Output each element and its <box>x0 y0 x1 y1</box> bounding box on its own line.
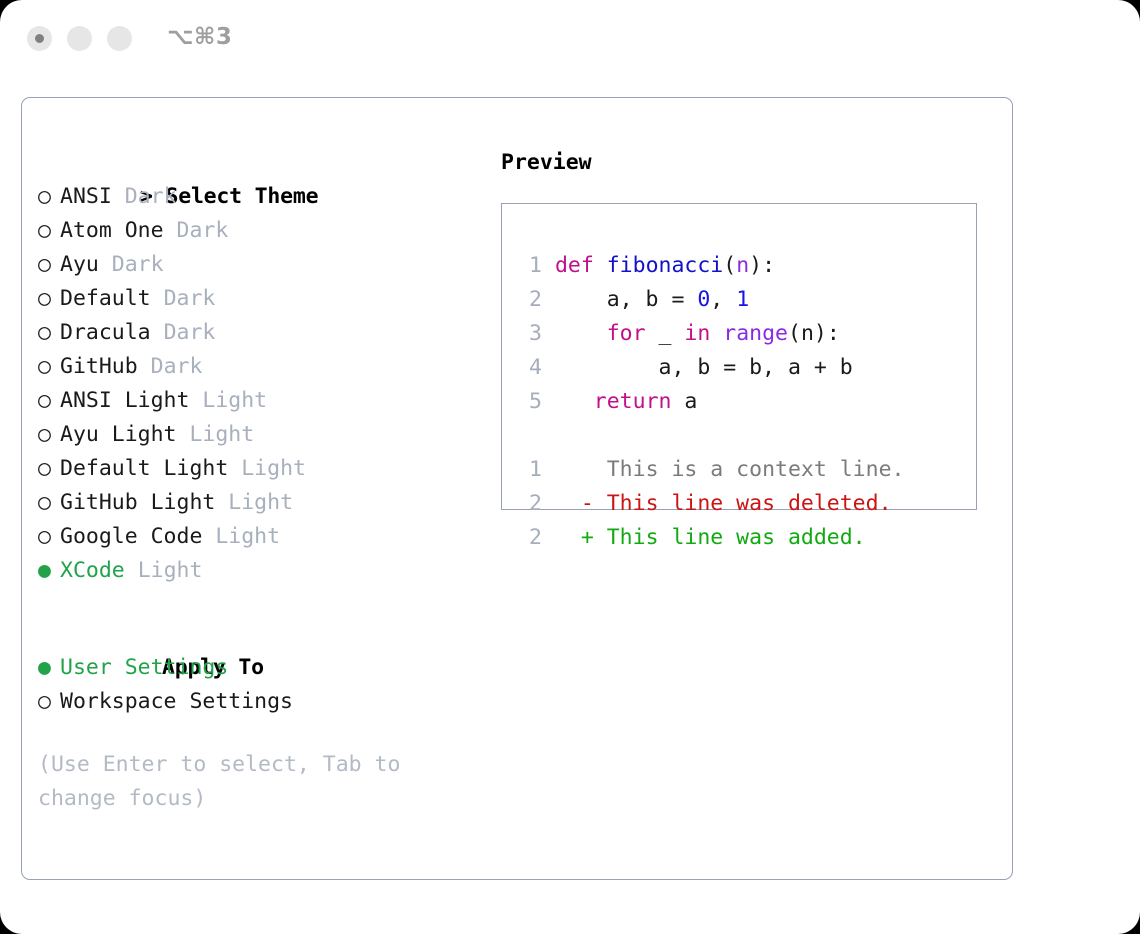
spacer <box>164 218 177 243</box>
theme-list-item[interactable]: ○Atom One Dark <box>38 214 478 248</box>
radio-unselected-icon: ○ <box>38 418 60 452</box>
diff-marker: - <box>581 491 594 516</box>
radio-selected-icon: ● <box>38 554 60 588</box>
theme-name: Default <box>60 286 151 311</box>
gutter-space <box>542 355 555 380</box>
spacer <box>202 524 215 549</box>
zoom-button[interactable] <box>107 26 132 51</box>
close-dot-icon <box>35 34 44 43</box>
theme-selector-column: > Select Theme ○ANSI Dark○Atom One Dark○… <box>38 146 478 816</box>
theme-list-item[interactable]: ○Default Light Light <box>38 452 478 486</box>
theme-name: Google Code <box>60 524 202 549</box>
main-panel: > Select Theme ○ANSI Dark○Atom One Dark○… <box>21 97 1013 880</box>
spacer <box>99 252 112 277</box>
radio-unselected-icon: ○ <box>38 180 60 214</box>
diff-line: 2 + This line was added. <box>516 521 966 555</box>
minimize-button[interactable] <box>67 26 92 51</box>
code-token: 1 <box>736 287 749 312</box>
line-number: 1 <box>516 249 542 283</box>
line-number: 2 <box>516 521 542 555</box>
theme-variant-tag: Dark <box>112 252 164 277</box>
theme-list-item[interactable]: ●XCode Light <box>38 554 478 588</box>
code-token: fibonacci <box>607 253 724 278</box>
line-number: 5 <box>516 385 542 419</box>
theme-name: ANSI <box>60 184 112 209</box>
code-token: range <box>723 321 788 346</box>
spacer <box>215 490 228 515</box>
code-token: ): <box>749 253 775 278</box>
code-token: a, b = <box>555 287 697 312</box>
spacer <box>151 320 164 345</box>
code-token: a <box>671 389 697 414</box>
line-number: 3 <box>516 317 542 351</box>
code-token: 0 <box>697 287 710 312</box>
theme-list-item[interactable]: ○GitHub Light Light <box>38 486 478 520</box>
code-token: a, b = b, a + b <box>555 355 853 380</box>
gutter-space <box>542 525 581 550</box>
theme-variant-tag: Dark <box>164 286 216 311</box>
theme-name: ANSI Light <box>60 388 189 413</box>
code-token: return <box>594 389 672 414</box>
radio-unselected-icon: ○ <box>38 486 60 520</box>
radio-unselected-icon: ○ <box>38 248 60 282</box>
code-preview-area: 1 def fibonacci(n):2 a, b = 0, 13 for _ … <box>516 249 966 555</box>
radio-unselected-icon: ○ <box>38 452 60 486</box>
gutter-space <box>542 389 555 414</box>
preview-column: Preview 1 def fibonacci(n):2 a, b = 0, 1… <box>501 146 1001 180</box>
code-token <box>555 389 594 414</box>
theme-variant-tag: Light <box>138 558 203 583</box>
theme-name: Dracula <box>60 320 151 345</box>
theme-variant-tag: Light <box>215 524 280 549</box>
preview-heading: Preview <box>501 146 1001 180</box>
gutter-space <box>542 491 581 516</box>
code-line: 2 a, b = 0, 1 <box>516 283 966 317</box>
radio-unselected-icon: ○ <box>38 316 60 350</box>
theme-list-item[interactable]: ○Ayu Light Light <box>38 418 478 452</box>
diff-marker: + <box>581 525 594 550</box>
radio-unselected-icon: ○ <box>38 384 60 418</box>
theme-variant-tag: Light <box>202 388 267 413</box>
code-token: for <box>607 321 646 346</box>
code-token: in <box>684 321 710 346</box>
radio-unselected-icon: ○ <box>38 214 60 248</box>
spacer <box>177 422 190 447</box>
code-line: 3 for _ in range(n): <box>516 317 966 351</box>
gutter-space <box>542 321 555 346</box>
theme-name: GitHub <box>60 354 138 379</box>
code-line: 1 def fibonacci(n): <box>516 249 966 283</box>
apply-to-heading: Apply To <box>38 617 478 651</box>
line-number: 2 <box>516 487 542 521</box>
code-token: def <box>555 253 607 278</box>
code-token: (n): <box>788 321 840 346</box>
code-token: n <box>736 253 749 278</box>
theme-list-item[interactable]: ○Dracula Dark <box>38 316 478 350</box>
radio-unselected-icon: ○ <box>38 350 60 384</box>
diff-text: This is a context line. <box>594 457 905 482</box>
diff-text: This line was deleted. <box>594 491 892 516</box>
code-token: ( <box>723 253 736 278</box>
theme-variant-tag: Dark <box>151 354 203 379</box>
window-title-bar: ⌥⌘3 <box>0 0 1140 78</box>
radio-unselected-icon: ○ <box>38 520 60 554</box>
theme-list-item[interactable]: ○Google Code Light <box>38 520 478 554</box>
spacer <box>189 388 202 413</box>
radio-selected-icon: ● <box>38 651 60 685</box>
theme-list-item[interactable]: ○Default Dark <box>38 282 478 316</box>
theme-list-item[interactable]: ○GitHub Dark <box>38 350 478 384</box>
theme-name: Atom One <box>60 218 164 243</box>
gutter-space <box>542 457 581 482</box>
diff-line: 2 - This line was deleted. <box>516 487 966 521</box>
theme-variant-tag: Dark <box>125 184 177 209</box>
spacer <box>151 286 164 311</box>
theme-variant-tag: Dark <box>177 218 229 243</box>
diff-text: This line was added. <box>594 525 866 550</box>
preview-box: 1 def fibonacci(n):2 a, b = 0, 13 for _ … <box>501 203 977 510</box>
code-token: _ <box>646 321 685 346</box>
theme-name: Ayu Light <box>60 422 177 447</box>
code-line: 4 a, b = b, a + b <box>516 351 966 385</box>
keyboard-hint-text: (Use Enter to select, Tab to change focu… <box>38 748 458 816</box>
apply-to-option[interactable]: ○Workspace Settings <box>38 685 478 719</box>
radio-unselected-icon: ○ <box>38 685 60 719</box>
keyboard-shortcut-label: ⌥⌘3 <box>167 24 232 50</box>
theme-variant-tag: Dark <box>164 320 216 345</box>
code-token: , <box>710 287 736 312</box>
theme-variant-tag: Light <box>228 490 293 515</box>
line-number: 1 <box>516 453 542 487</box>
code-line: 5 return a <box>516 385 966 419</box>
spacer <box>138 354 151 379</box>
line-number: 2 <box>516 283 542 317</box>
spacer <box>125 558 138 583</box>
code-token <box>555 321 607 346</box>
diff-line: 1 This is a context line. <box>516 453 966 487</box>
theme-name: GitHub Light <box>60 490 215 515</box>
theme-list: ○ANSI Dark○Atom One Dark○Ayu Dark○Defaul… <box>38 180 478 588</box>
gutter-space <box>542 253 555 278</box>
select-theme-heading: > Select Theme <box>38 146 478 180</box>
theme-variant-tag: Light <box>241 456 306 481</box>
app-window: ⌥⌘3 > Select Theme ○ANSI Dark○Atom One D… <box>0 0 1140 934</box>
theme-name: Ayu <box>60 252 99 277</box>
apply-to-option-label: User Settings <box>60 655 228 680</box>
spacer <box>112 184 125 209</box>
theme-name: Default Light <box>60 456 228 481</box>
apply-to-option-label: Workspace Settings <box>60 689 293 714</box>
theme-list-item[interactable]: ○ANSI Light Light <box>38 384 478 418</box>
spacer <box>228 456 241 481</box>
gutter-space <box>542 287 555 312</box>
close-button[interactable] <box>27 26 52 51</box>
theme-name: XCode <box>60 558 125 583</box>
diff-marker <box>581 457 594 482</box>
radio-unselected-icon: ○ <box>38 282 60 316</box>
line-number: 4 <box>516 351 542 385</box>
code-token <box>710 321 723 346</box>
select-theme-heading-text: Select Theme <box>165 184 318 209</box>
code-diff-separator <box>516 419 966 453</box>
theme-list-item[interactable]: ○Ayu Dark <box>38 248 478 282</box>
theme-variant-tag: Light <box>189 422 254 447</box>
